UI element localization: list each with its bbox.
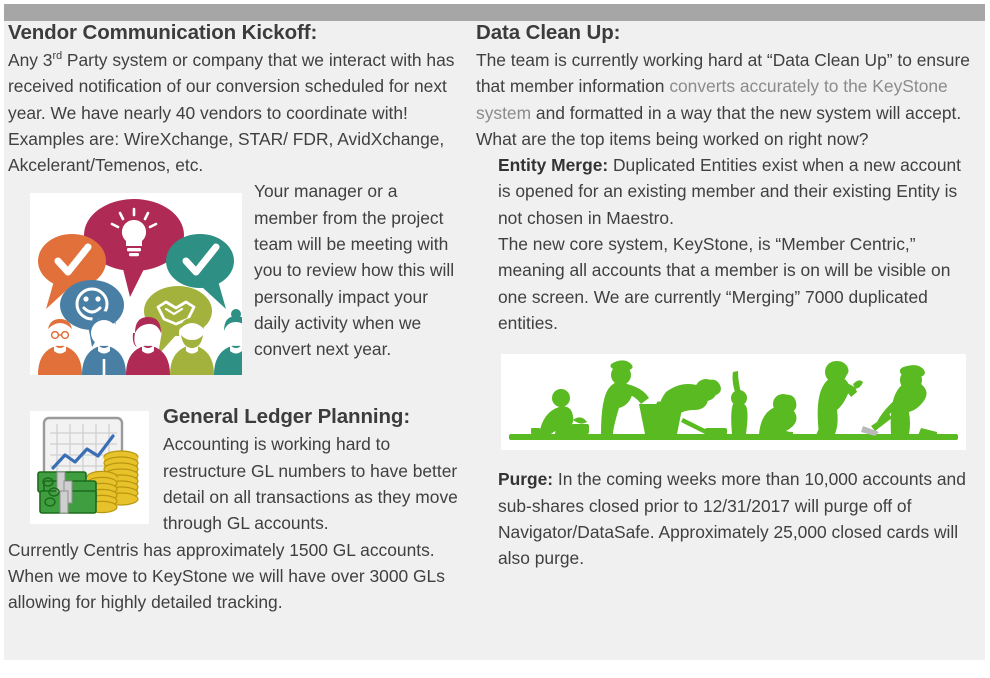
- speech-bubbles-people-illustration: [30, 193, 242, 375]
- top-header-bar: [4, 4, 985, 21]
- data-clean-up-title: Data Clean Up:: [476, 21, 976, 45]
- intro-part-2: and formatted in a way that the new syst…: [476, 103, 961, 149]
- vendor-paragraph-pre: Any 3: [8, 50, 52, 70]
- general-ledger-below-text: Currently Centris has approximately 1500…: [8, 537, 463, 616]
- two-column-layout: Vendor Communication Kickoff: Any 3rd Pa…: [0, 21, 985, 660]
- green-workers-illustration: [501, 354, 966, 450]
- vendor-communication-title: Vendor Communication Kickoff:: [8, 21, 463, 45]
- purge-text: In the coming weeks more than 10,000 acc…: [498, 469, 966, 568]
- ordinal-suffix: rd: [52, 50, 62, 62]
- general-ledger-illustration: [30, 411, 149, 524]
- entity-merge-label: Entity Merge:: [498, 155, 608, 175]
- entity-merge-paragraph: Entity Merge: Duplicated Entities exist …: [476, 152, 976, 231]
- vendor-communication-paragraph: Any 3rd Party system or company that we …: [8, 47, 463, 178]
- purge-label: Purge:: [498, 469, 553, 489]
- left-column: Vendor Communication Kickoff: Any 3rd Pa…: [8, 21, 463, 616]
- data-clean-up-intro: The team is currently working hard at “D…: [476, 47, 976, 152]
- newsletter-page: Vendor Communication Kickoff: Any 3rd Pa…: [0, 0, 990, 678]
- purge-paragraph: Purge: In the coming weeks more than 10,…: [476, 466, 976, 571]
- member-centric-paragraph: The new core system, KeyStone, is “Membe…: [476, 231, 976, 336]
- right-column: Data Clean Up: The team is currently wor…: [476, 21, 976, 571]
- clear-after-people: [8, 383, 463, 405]
- vendor-paragraph-post: Party system or company that we interact…: [8, 50, 454, 175]
